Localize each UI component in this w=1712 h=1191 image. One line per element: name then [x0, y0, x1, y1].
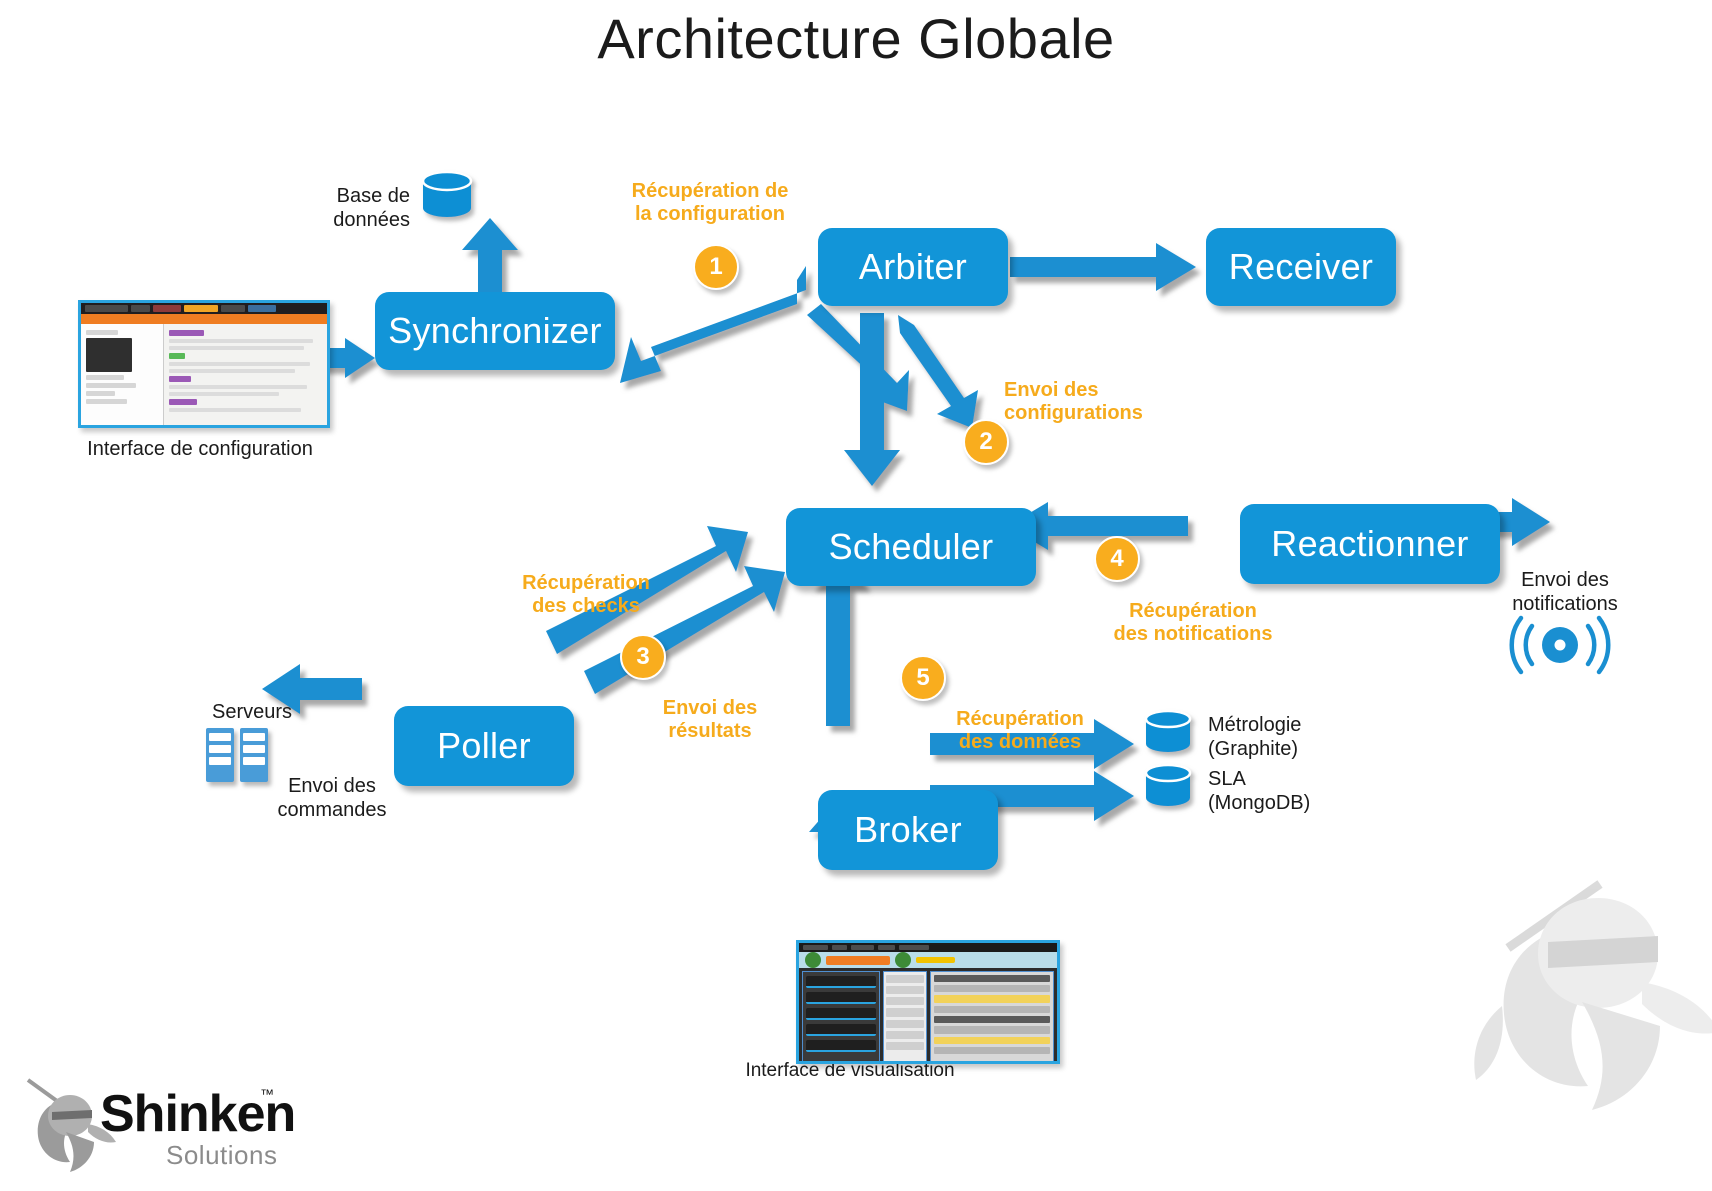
- annotation-step2: Envoi des configurations: [1004, 379, 1224, 425]
- node-receiver[interactable]: Receiver: [1206, 228, 1396, 306]
- arrow-arbiter-branch-right: [898, 315, 978, 428]
- step-badge-4: 4: [1094, 536, 1140, 582]
- visu-shot-column-left: [802, 971, 880, 1064]
- node-reactionner-label: Reactionner: [1271, 523, 1468, 565]
- caption-config-interface: Interface de configuration: [60, 437, 340, 461]
- ninja-watermark: [1474, 884, 1712, 1110]
- step-4-number: 4: [1110, 545, 1123, 573]
- diagram-canvas: Architecture Globale: [0, 0, 1712, 1191]
- broadcast-icon: [1512, 618, 1609, 672]
- annotation-step5: Récupération des données: [920, 708, 1120, 754]
- visu-shot-status-bar: [799, 952, 1057, 967]
- config-shot-right-panel: [164, 324, 327, 425]
- arrow-arbiter-to-receiver: [1010, 243, 1196, 291]
- visu-shot-column-right: [930, 971, 1054, 1064]
- node-broker[interactable]: Broker: [818, 790, 998, 870]
- annotation-step3-results: Envoi des résultats: [630, 697, 790, 743]
- step-1-number: 1: [709, 253, 722, 281]
- node-poller[interactable]: Poller: [394, 706, 574, 786]
- step-badge-1: 1: [693, 244, 739, 290]
- shinken-logo-tm: ™: [260, 1086, 274, 1102]
- label-database: Base de données: [320, 184, 410, 232]
- step-5-number: 5: [916, 664, 929, 692]
- step-badge-3: 3: [620, 634, 666, 680]
- visu-shot-status-dot-2: [895, 952, 911, 968]
- visu-shot-status-dot: [805, 952, 821, 968]
- node-broker-label: Broker: [854, 809, 962, 851]
- node-receiver-label: Receiver: [1229, 246, 1373, 288]
- label-send-notifications: Envoi des notifications: [1500, 568, 1630, 616]
- step-badge-5: 5: [900, 655, 946, 701]
- database-icon-sla: [1146, 764, 1190, 806]
- node-synchronizer-label: Synchronizer: [388, 310, 602, 352]
- annotation-step1: Récupération de la configuration: [600, 180, 820, 226]
- step-2-number: 2: [979, 428, 992, 456]
- node-arbiter-label: Arbiter: [859, 246, 967, 288]
- label-sla: SLA (MongoDB): [1208, 767, 1408, 815]
- annotation-step3-checks: Récupération des checks: [496, 572, 676, 618]
- step-badge-2: 2: [963, 419, 1009, 465]
- config-shot-titlebar: [81, 303, 327, 314]
- config-interface-screenshot[interactable]: [78, 300, 330, 428]
- node-scheduler-label: Scheduler: [829, 526, 994, 568]
- shinken-logo: Shinken ™ Solutions: [14, 1062, 314, 1182]
- arrow-synchronizer-to-database: [462, 218, 518, 300]
- node-reactionner[interactable]: Reactionner: [1240, 504, 1500, 584]
- config-shot-body: [81, 324, 327, 425]
- annotation-step4: Récupération des notifications: [1078, 600, 1308, 646]
- config-shot-orange-bar: [81, 314, 327, 324]
- visu-shot-orange-chip: [826, 956, 890, 965]
- node-synchronizer[interactable]: Synchronizer: [375, 292, 615, 370]
- label-send-commands: Envoi des commandes: [272, 774, 392, 822]
- node-poller-label: Poller: [437, 725, 531, 767]
- step-3-number: 3: [636, 643, 649, 671]
- visu-shot-column-mid: [883, 971, 928, 1064]
- visu-shot-body: [799, 968, 1057, 1064]
- node-arbiter[interactable]: Arbiter: [818, 228, 1008, 306]
- visu-shot-yellow-chip: [916, 957, 955, 964]
- servers-icon: [206, 728, 268, 782]
- config-shot-left-panel: [81, 324, 164, 425]
- arrow-arbiter-branch-left: [807, 304, 909, 411]
- node-scheduler[interactable]: Scheduler: [786, 508, 1036, 586]
- label-metrology: Métrologie (Graphite): [1208, 713, 1408, 761]
- label-servers: Serveurs: [212, 700, 352, 724]
- database-icon-top: [423, 171, 471, 217]
- visu-shot-titlebar: [799, 943, 1057, 952]
- visu-interface-screenshot[interactable]: [796, 940, 1060, 1064]
- shinken-logo-tagline: Solutions: [166, 1140, 277, 1171]
- database-icon-metrology: [1146, 710, 1190, 752]
